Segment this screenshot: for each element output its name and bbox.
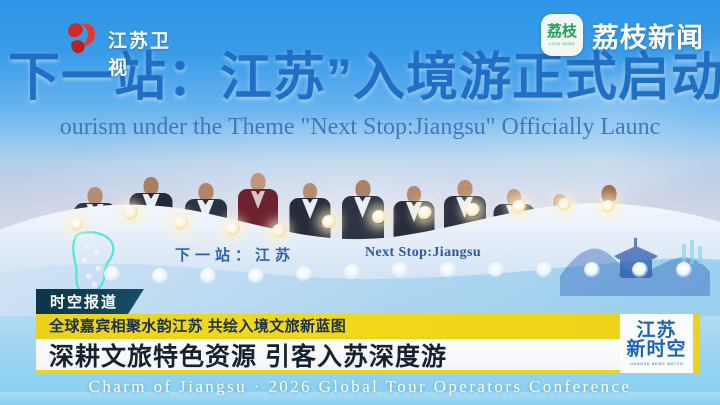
lizhi-logo-mark: 荔枝 LICHI NEWS <box>541 14 583 56</box>
jiangsu-pavilion-icon <box>560 216 710 296</box>
stage-light-orb <box>226 222 240 236</box>
stage-light-orb <box>272 224 286 238</box>
lower-third-subhead-bar: 全球嘉宾相聚水韵江苏 共绘入境文旅新蓝图 <box>36 314 620 337</box>
lower-third-headline: 深耕文旅特色资源 引客入苏深度游 <box>49 337 447 373</box>
lizhi-news-logo: 荔枝 LICHI NEWS 荔枝新闻 <box>541 12 704 58</box>
panel-light <box>104 266 120 282</box>
panel-light <box>488 262 504 278</box>
stage-light-orb <box>372 210 386 224</box>
panel-light <box>536 262 552 278</box>
program-badge-line2: 新时空 <box>626 340 686 359</box>
panel-light <box>296 266 312 282</box>
panel-light <box>200 268 216 284</box>
lower-third-subhead: 全球嘉宾相聚水韵江苏 共绘入境文旅新蓝图 <box>49 315 346 336</box>
stage-light-orb <box>124 206 138 220</box>
panel-light <box>632 262 648 278</box>
lower-third-headline-bar: 深耕文旅特色资源 引客入苏深度游 <box>36 337 620 373</box>
program-badge: 江苏 新时空 JIANGSU NEWS WATCH <box>620 314 700 373</box>
panel-light <box>584 262 600 278</box>
stage-light-orb <box>602 200 615 213</box>
program-badge-subtitle: JIANGSU NEWS WATCH <box>630 362 684 366</box>
panel-light <box>344 264 360 280</box>
stage-light-orb <box>70 218 83 231</box>
program-badge-line1: 江苏 <box>636 321 676 340</box>
event-banner-title-en: ourism under the Theme "Next Stop:Jiangs… <box>0 115 720 139</box>
panel-light <box>676 262 692 278</box>
panel-light <box>392 262 408 278</box>
stage-light-orb <box>558 198 571 211</box>
broadcast-screenshot: 下一站：江苏”入境游正式启动 ourism under the Theme "N… <box>0 0 720 405</box>
lower-third-tab-label: 时空报道 <box>50 291 118 312</box>
stage-light-orb <box>322 215 336 229</box>
panel-light <box>440 262 456 278</box>
stage-slogan-cn: 下一站：江苏 <box>175 244 295 265</box>
stage-slogan-en: Next Stop:Jiangsu <box>365 245 481 261</box>
lizhi-news-logo-text: 荔枝新闻 <box>592 16 704 55</box>
lizhi-logo-mark-cn: 荔枝 <box>547 24 577 39</box>
stage-light-orb <box>466 203 480 217</box>
jiangsu-tv-logo-text: 江苏卫视 <box>108 26 190 80</box>
jiangsu-tv-logo: 江苏卫视 <box>62 18 190 58</box>
stage-light-orb <box>174 216 188 230</box>
panel-light <box>152 268 168 284</box>
bottom-conference-caption: Charm of Jiangsu · 2026 Global Tour Oper… <box>0 377 720 397</box>
stage-light-orb <box>418 206 432 220</box>
lizhi-logo-mark-en: LICHI NEWS <box>549 42 575 46</box>
panel-light <box>248 268 264 284</box>
lower-third-tab: 时空报道 <box>36 289 144 314</box>
stage-light-orb <box>512 200 526 214</box>
jiangsu-tv-swirl-icon <box>62 20 104 56</box>
